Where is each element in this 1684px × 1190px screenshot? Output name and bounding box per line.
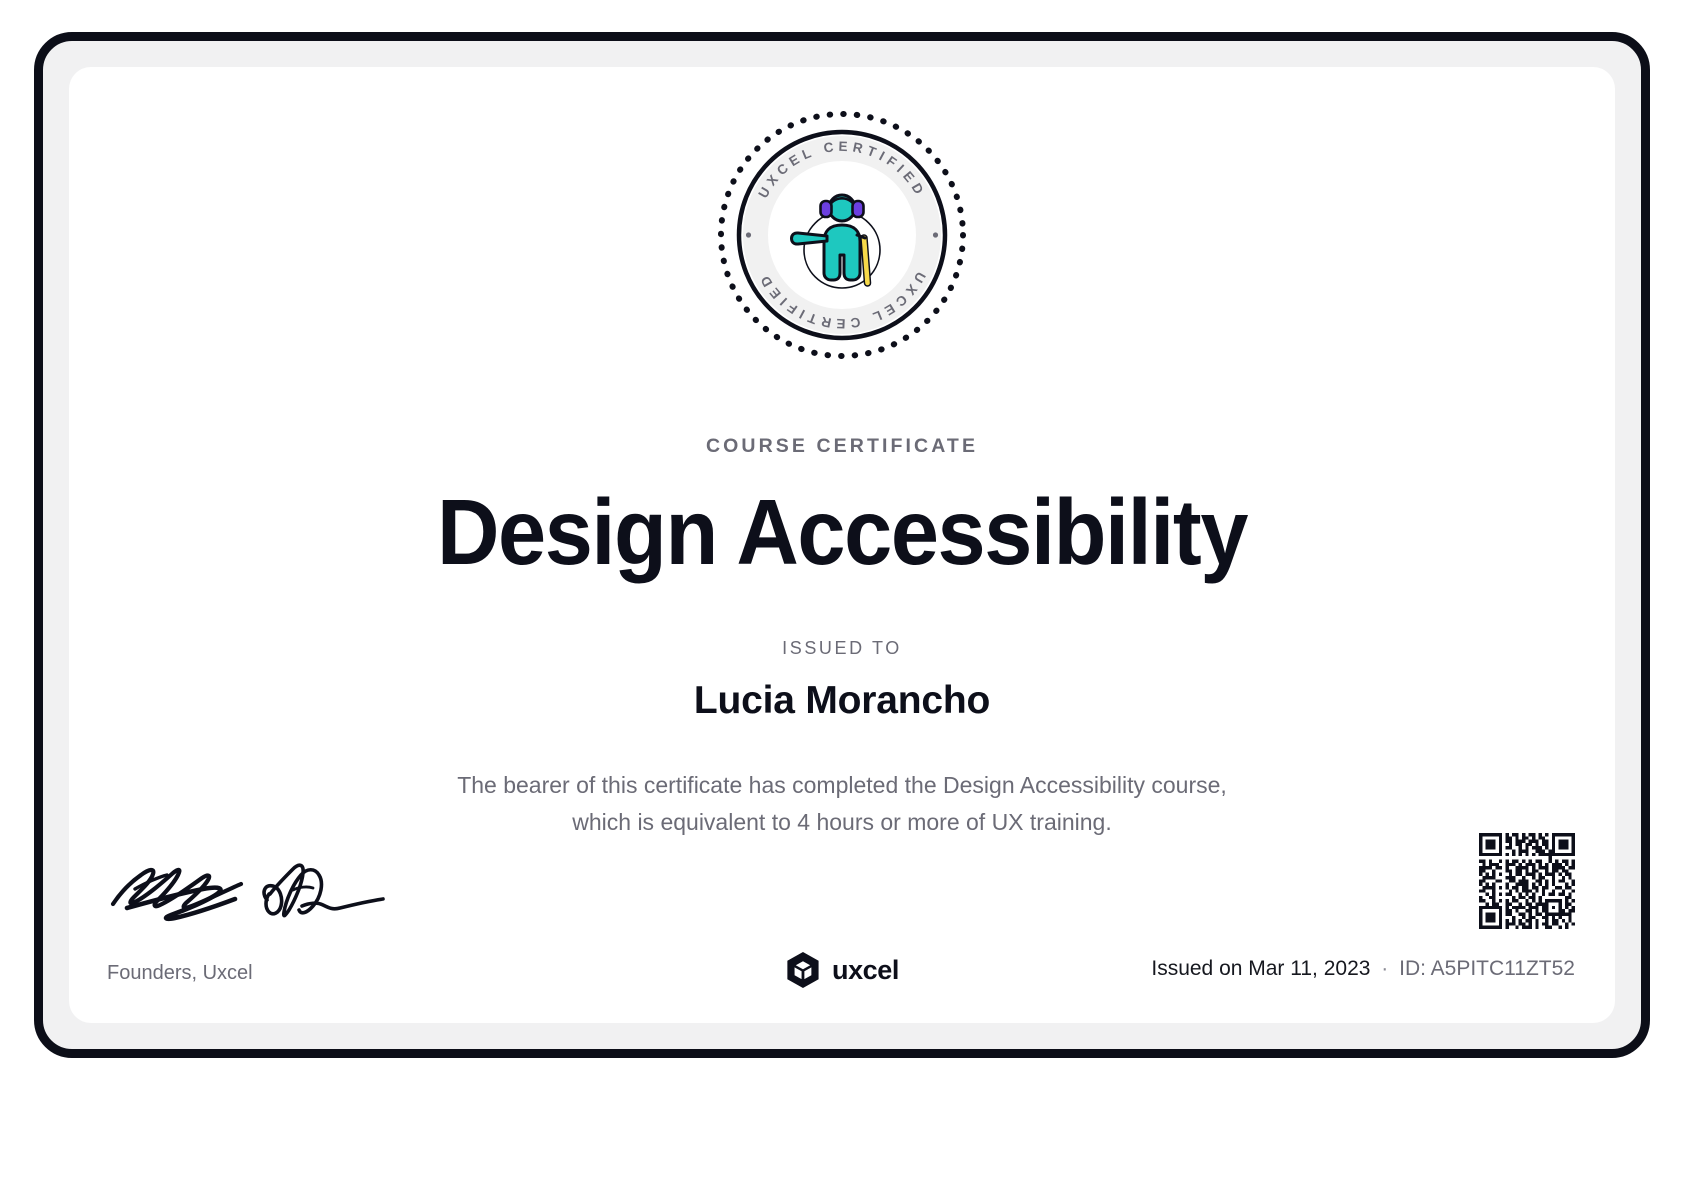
uxcel-certified-seal: UXCEL CERTIFIED UXCEL CERTIFIED — [712, 105, 972, 365]
issue-metadata: Issued on Mar 11, 2023 · ID: A5PITC11ZT5… — [1151, 957, 1575, 981]
description-line-2: which is equivalent to 4 hours or more o… — [392, 804, 1292, 841]
founders-label: Founders, Uxcel — [107, 962, 253, 985]
page-title: Design Accessibility — [123, 482, 1561, 582]
signature-graphic — [107, 842, 437, 922]
description-line-1: The bearer of this certificate has compl… — [392, 767, 1292, 804]
course-certificate-kicker: COURSE CERTIFICATE — [69, 435, 1615, 458]
uxcel-wordmark: uxcel — [832, 955, 899, 986]
certificate-frame: UXCEL CERTIFIED UXCEL CERTIFIED — [34, 32, 1650, 1058]
uxcel-cube-hexagon-icon — [785, 951, 821, 989]
seal-separator-dot-left — [746, 232, 751, 237]
recipient-name: Lucia Morancho — [69, 679, 1615, 723]
certificate-id: ID: A5PITC11ZT52 — [1399, 957, 1575, 980]
certificate-description: The bearer of this certificate has compl… — [392, 767, 1292, 842]
certificate-card: UXCEL CERTIFIED UXCEL CERTIFIED — [69, 67, 1615, 1023]
issued-to-label: ISSUED TO — [69, 638, 1615, 659]
seal-separator-dot-right — [933, 232, 938, 237]
issue-date: Issued on Mar 11, 2023 — [1151, 957, 1370, 980]
qr-code-graphic[interactable] — [1479, 833, 1575, 929]
verification-qr-code[interactable] — [1479, 833, 1575, 929]
uxcel-brand-logo: uxcel — [785, 951, 899, 989]
meta-separator: · — [1376, 957, 1393, 980]
founder-signatures — [107, 842, 437, 922]
seal-graphic: UXCEL CERTIFIED UXCEL CERTIFIED — [712, 105, 972, 365]
